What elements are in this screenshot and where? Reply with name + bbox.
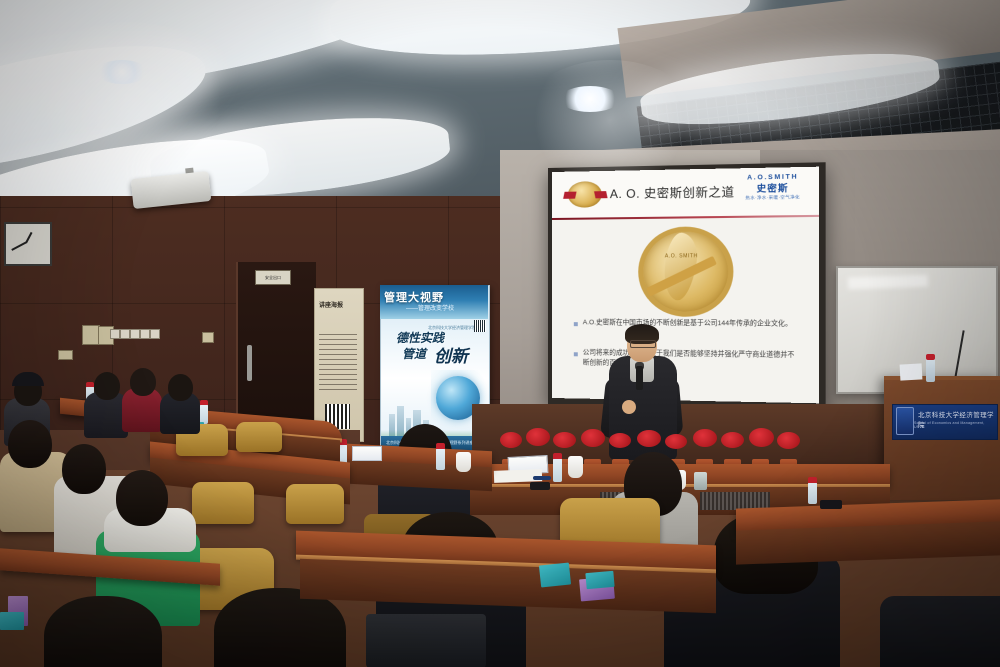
podium-papers xyxy=(900,363,923,380)
laptop[interactable] xyxy=(366,614,486,667)
clock-minute-hand xyxy=(12,242,27,251)
light-switch[interactable] xyxy=(150,329,160,339)
bottle-cap xyxy=(86,382,94,387)
poinsettia-bloom xyxy=(581,429,605,447)
water-bottle xyxy=(553,458,562,482)
audience-head xyxy=(116,470,168,526)
poinsettia-bloom xyxy=(526,428,550,446)
light-switch[interactable] xyxy=(110,329,120,339)
poinsettia-bloom xyxy=(500,432,522,448)
brochure xyxy=(585,571,614,589)
emblem-label: A.O. SMITH xyxy=(650,253,712,259)
bottle-cap xyxy=(808,477,817,483)
poinsettia-bloom xyxy=(665,434,687,449)
water-bottle xyxy=(808,482,817,504)
slide-bullet-text: A.O.史密斯在中国市场的不断创新是基于公司144年传承的企业文化。 xyxy=(583,318,792,330)
downlight xyxy=(96,60,148,84)
name-card xyxy=(352,446,382,461)
seal-ribbon-left-icon xyxy=(563,192,576,199)
smartphone xyxy=(530,482,550,490)
wall-outlet[interactable] xyxy=(58,350,73,360)
poster-title: 讲座海报 xyxy=(319,302,357,322)
speaker-glasses-icon xyxy=(630,340,656,348)
downlight xyxy=(560,86,620,112)
audience-head xyxy=(8,420,52,468)
slide-bullet: 公司将来的成功完全取决于我们是否能够坚持并强化严守商业道德并不断创新的百年传统。 xyxy=(574,348,800,372)
water-bottle xyxy=(926,358,935,382)
lecture-hall-photo: 安全出口 讲座海报 管理大视野 ——管理改变学校 北京科技大学经济管理学院 德性… xyxy=(0,0,1000,667)
glass-cup xyxy=(694,472,707,490)
wall-outlet[interactable] xyxy=(202,332,214,343)
chair[interactable] xyxy=(236,422,282,452)
water-bottle xyxy=(436,448,445,470)
bottle-cap xyxy=(200,400,208,405)
audience-head xyxy=(44,596,162,667)
speaker-hand xyxy=(622,400,636,414)
presentation-slide: A. O. 史密斯创新之道 A.O.SMITH 史密斯 热水·净水·采暖·空气净… xyxy=(552,167,819,404)
wall-clock xyxy=(4,222,52,266)
banner-calligraphy-big: 创新 xyxy=(434,342,468,367)
poinsettia-bloom xyxy=(749,428,774,447)
poster-body-text xyxy=(319,330,357,390)
ao-smith-logo-cn: 史密斯 xyxy=(738,180,808,195)
poinsettia-bloom xyxy=(777,432,800,449)
brochure xyxy=(539,562,571,587)
banner-subtitle: ——管理改变学校 xyxy=(406,303,486,312)
tea-cup xyxy=(568,456,583,478)
audience-head xyxy=(94,372,120,400)
poinsettia-bloom xyxy=(693,429,717,447)
slide-bullet: A.O.史密斯在中国市场的不断创新是基于公司144年传承的企业文化。 xyxy=(574,318,800,330)
banner-qr-code xyxy=(474,320,486,332)
light-switch[interactable] xyxy=(120,329,130,339)
exit-sign: 安全出口 xyxy=(255,270,291,285)
light-switch[interactable] xyxy=(140,329,150,339)
poinsettia-bloom xyxy=(721,432,744,448)
audience-body xyxy=(880,596,1000,667)
clock-hour-hand xyxy=(25,232,32,244)
audience-head xyxy=(168,374,193,401)
ao-smith-tagline: 热水·净水·采暖·空气净化 xyxy=(738,194,808,201)
brochure xyxy=(0,612,24,630)
poinsettia-bloom xyxy=(609,433,631,448)
audience-head xyxy=(214,588,346,667)
door-handle[interactable] xyxy=(247,345,252,381)
slide-title: A. O. 史密斯创新之道 xyxy=(610,183,735,202)
handheld-microphone xyxy=(636,366,643,390)
banner-calligraphy-line2: 管道 xyxy=(402,345,426,362)
poinsettia-bloom xyxy=(637,430,661,447)
bullet-marker-icon xyxy=(574,322,578,326)
bullet-marker-icon xyxy=(574,352,578,356)
tea-cup xyxy=(456,452,471,472)
ao-smith-logo: A.O.SMITH 史密斯 热水·净水·采暖·空气净化 xyxy=(738,173,808,201)
chair[interactable] xyxy=(192,482,254,524)
podium-sign-en: School of Economics and Management, USTB xyxy=(914,421,996,429)
chair[interactable] xyxy=(286,484,344,524)
bottle-cap xyxy=(436,443,445,449)
pen xyxy=(533,476,551,480)
university-crest-icon xyxy=(896,407,914,435)
bottle-cap xyxy=(926,354,935,360)
water-bottle xyxy=(200,404,208,424)
seal-ribbon-right-icon xyxy=(594,191,608,198)
smartphone xyxy=(820,500,842,509)
light-switch[interactable] xyxy=(130,329,140,339)
bottle-cap xyxy=(553,453,562,459)
audience-head xyxy=(62,444,106,494)
poinsettia-bloom xyxy=(553,432,576,448)
audience-head xyxy=(130,368,156,396)
